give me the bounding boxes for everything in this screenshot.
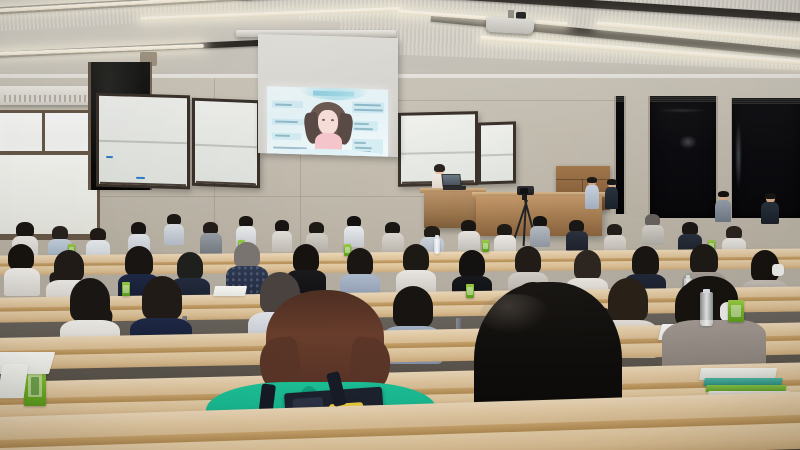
- water-bottle: [700, 292, 713, 326]
- audience-person: [642, 214, 664, 244]
- man-in-gray-shirt-with-mask: [662, 276, 766, 372]
- green-tea-carton: [122, 282, 130, 296]
- audience-person: [200, 222, 222, 254]
- audience-person: [4, 244, 40, 292]
- audience-person: [458, 220, 480, 250]
- lecture-hall-photo: [0, 0, 800, 450]
- handout-paper: [0, 364, 28, 398]
- audience-person: [566, 220, 588, 250]
- green-tea-carton: [728, 300, 744, 322]
- audience-person: [344, 216, 364, 246]
- handout-paper: [213, 286, 247, 296]
- audience-person: [164, 214, 184, 244]
- face-mask: [772, 264, 784, 276]
- audience-rows: [0, 0, 800, 450]
- audience-person: [530, 216, 550, 246]
